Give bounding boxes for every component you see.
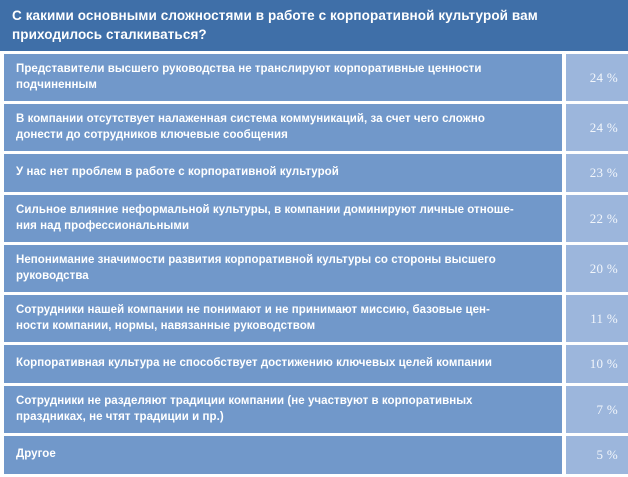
answer-line: В компании отсутствует налаженная систем… xyxy=(16,112,552,128)
answer-rows: Представители высшего руководства не тра… xyxy=(0,51,628,477)
answer-line: Сотрудники не разделяют традиции компани… xyxy=(16,394,552,410)
answer-line: праздниках, не чтят традиции и пр.) xyxy=(16,410,552,426)
answer-label: Непонимание значимости развития корпорат… xyxy=(4,245,562,292)
answer-label: У нас нет проблем в работе с корпоративн… xyxy=(4,154,562,192)
table-row: Сильное влияние неформальной культуры, в… xyxy=(0,195,628,242)
table-row: Корпоративная культура не способствует д… xyxy=(0,345,628,383)
answer-percent: 10 % xyxy=(566,345,628,383)
answer-percent: 11 % xyxy=(566,295,628,342)
answer-label: Сотрудники нашей компании не понимают и … xyxy=(4,295,562,342)
answer-line: ния над профессиональными xyxy=(16,219,552,235)
answer-line: руководства xyxy=(16,269,552,285)
answer-label: Корпоративная культура не способствует д… xyxy=(4,345,562,383)
answer-line: Сильное влияние неформальной культуры, в… xyxy=(16,203,552,219)
answer-line: Другое xyxy=(16,447,552,463)
table-row: Непонимание значимости развития корпорат… xyxy=(0,245,628,292)
table-row: Представители высшего руководства не тра… xyxy=(0,54,628,101)
table-row: Другое 5 % xyxy=(0,436,628,474)
table-row: В компании отсутствует налаженная систем… xyxy=(0,104,628,151)
answer-line: ности компании, нормы, навязанные руково… xyxy=(16,319,552,335)
answer-percent: 24 % xyxy=(566,104,628,151)
answer-line: Сотрудники нашей компании не понимают и … xyxy=(16,303,552,319)
answer-line: Корпоративная культура не способствует д… xyxy=(16,356,552,372)
table-row: Сотрудники нашей компании не понимают и … xyxy=(0,295,628,342)
answer-percent: 22 % xyxy=(566,195,628,242)
answer-label: Сильное влияние неформальной культуры, в… xyxy=(4,195,562,242)
answer-label: В компании отсутствует налаженная систем… xyxy=(4,104,562,151)
answer-line: У нас нет проблем в работе с корпоративн… xyxy=(16,165,552,181)
question-header: С какими основными сложностями в работе … xyxy=(0,0,628,51)
answer-line: подчиненным xyxy=(16,78,552,94)
answer-percent: 23 % xyxy=(566,154,628,192)
question-line-1: С какими основными сложностями в работе … xyxy=(12,6,616,25)
table-row: У нас нет проблем в работе с корпоративн… xyxy=(0,154,628,192)
table-row: Сотрудники не разделяют традиции компани… xyxy=(0,386,628,433)
answer-line: Непонимание значимости развития корпорат… xyxy=(16,253,552,269)
answer-label: Другое xyxy=(4,436,562,474)
answer-line: Представители высшего руководства не тра… xyxy=(16,62,552,78)
answer-label: Представители высшего руководства не тра… xyxy=(4,54,562,101)
answer-label: Сотрудники не разделяют традиции компани… xyxy=(4,386,562,433)
question-line-2: приходилось сталкиваться? xyxy=(12,25,616,44)
answer-percent: 20 % xyxy=(566,245,628,292)
answer-percent: 5 % xyxy=(566,436,628,474)
answer-percent: 7 % xyxy=(566,386,628,433)
answer-percent: 24 % xyxy=(566,54,628,101)
answer-line: донести до сотрудников ключевые сообщени… xyxy=(16,128,552,144)
survey-results-table: С какими основными сложностями в работе … xyxy=(0,0,628,476)
